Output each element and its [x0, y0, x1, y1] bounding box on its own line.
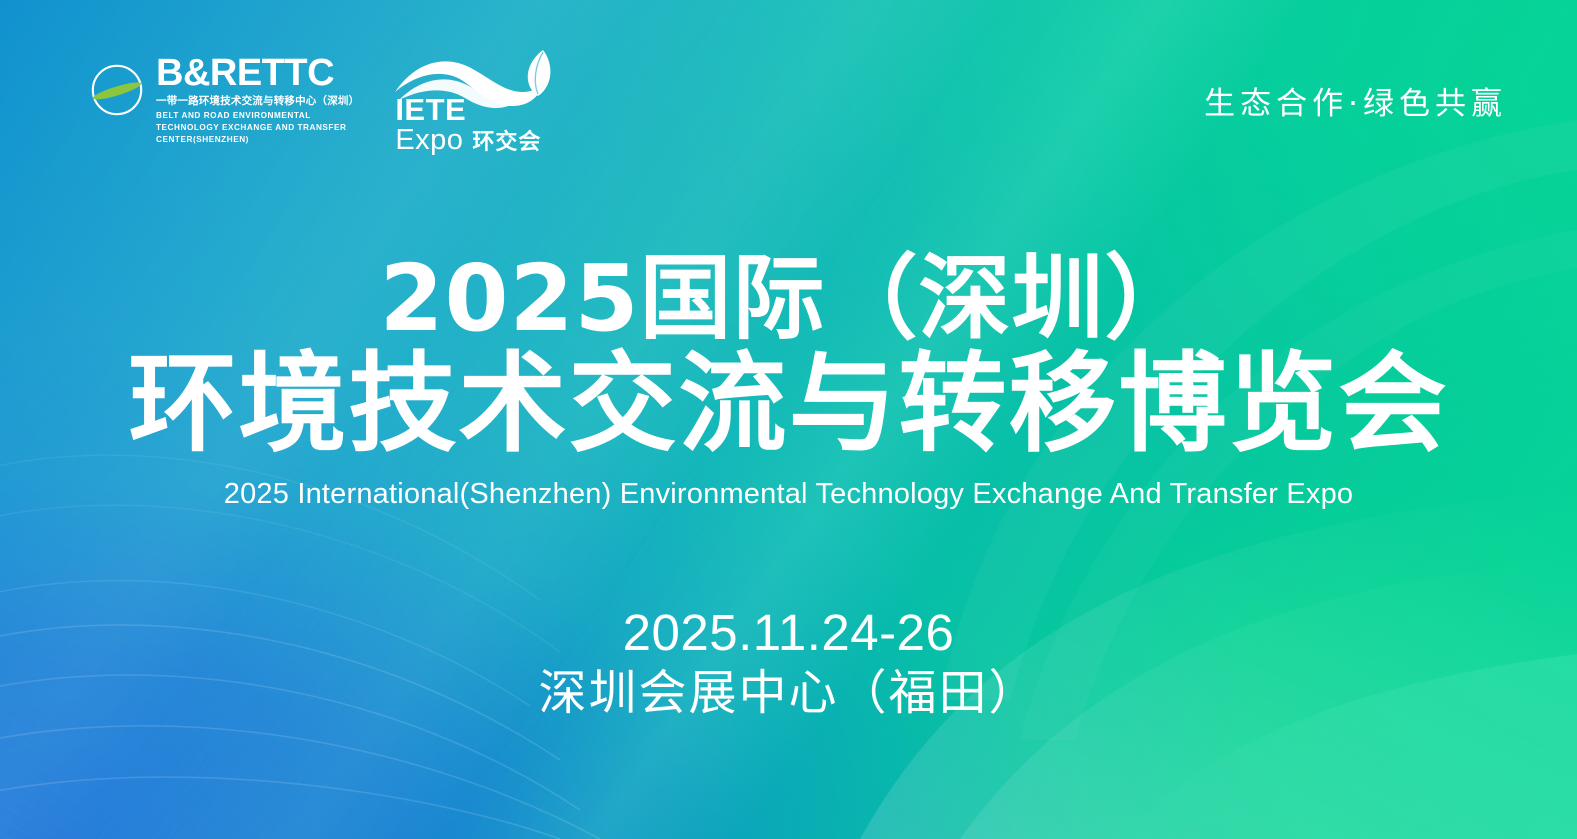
brettc-name-en: BELT AND ROAD ENVIRONMENTAL TECHNOLOGY E…	[156, 110, 359, 145]
event-title-line2: 环境技术交流与转移博览会	[0, 348, 1577, 461]
brettc-wordmark: B&RETTC	[156, 55, 359, 91]
globe-circle-icon	[88, 61, 146, 119]
event-date: 2025.11.24-26	[0, 604, 1577, 661]
event-venue: 深圳会展中心（福田）	[0, 667, 1577, 721]
event-banner: B&RETTC 一带一路环境技术交流与转移中心（深圳） BELT AND ROA…	[0, 0, 1577, 839]
event-title-english: 2025 International(Shenzhen) Environment…	[0, 477, 1577, 512]
iete-expo-word: Expo	[395, 126, 463, 155]
iete-wordmark: IETE	[395, 94, 541, 125]
brettc-name-en-line1: BELT AND ROAD ENVIRONMENTAL	[156, 110, 359, 122]
banner-header: B&RETTC 一带一路环境技术交流与转移中心（深圳） BELT AND ROA…	[0, 0, 1577, 200]
event-slogan: 生态合作·绿色共赢	[1204, 78, 1529, 123]
event-title-line1: 2025国际（深圳）	[0, 252, 1577, 346]
iete-text-block: IETE Expo 环交会	[395, 94, 541, 155]
logo-brettc[interactable]: B&RETTC 一带一路环境技术交流与转移中心（深圳） BELT AND ROA…	[88, 55, 359, 146]
event-meta-block: 2025.11.24-26 深圳会展中心（福田）	[0, 604, 1577, 721]
brettc-name-en-line2: TECHNOLOGY EXCHANGE AND TRANSFER	[156, 122, 359, 134]
brettc-name-cn: 一带一路环境技术交流与转移中心（深圳）	[156, 94, 359, 108]
iete-name-cn: 环交会	[472, 132, 541, 154]
logo-group: B&RETTC 一带一路环境技术交流与转移中心（深圳） BELT AND ROA…	[88, 48, 553, 153]
brettc-name-en-line3: CENTER(SHENZHEN)	[156, 134, 359, 146]
event-title-block: 2025国际（深圳） 环境技术交流与转移博览会 2025 Internation…	[0, 252, 1577, 512]
brettc-text-block: B&RETTC 一带一路环境技术交流与转移中心（深圳） BELT AND ROA…	[156, 55, 359, 146]
logo-iete-expo[interactable]: IETE Expo 环交会	[393, 48, 553, 153]
iete-subwordmark-row: Expo 环交会	[395, 126, 541, 155]
